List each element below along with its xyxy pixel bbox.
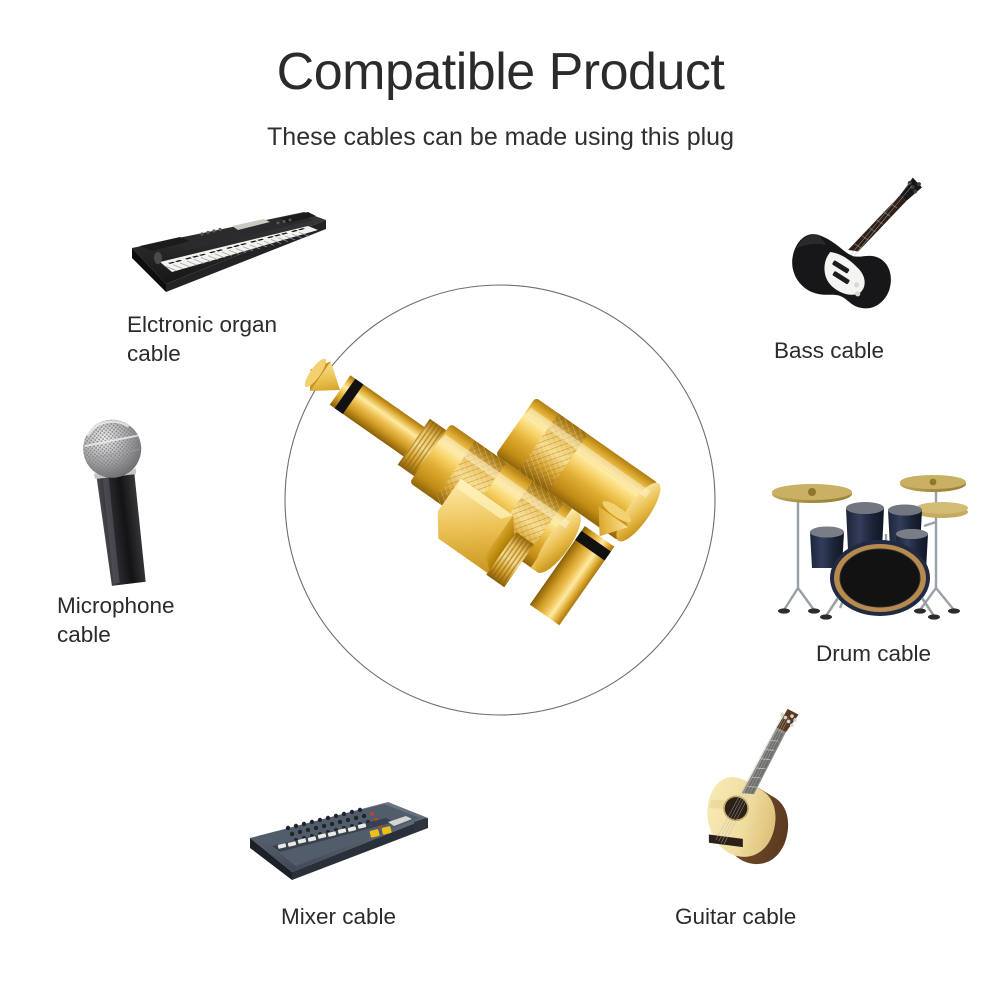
keyboard-icon xyxy=(112,196,336,304)
label-electronic-organ-cable: Elctronic organ cable xyxy=(127,311,277,369)
microphone-icon xyxy=(56,418,188,590)
page-subtitle: These cables can be made using this plug xyxy=(0,122,1001,152)
label-bass-cable: Bass cable xyxy=(774,337,884,366)
drum-kit-icon xyxy=(768,438,980,626)
label-microphone-cable: Microphone cable xyxy=(57,592,175,650)
infographic-canvas: Compatible Product These cables can be m… xyxy=(0,0,1001,1001)
page-title: Compatible Product xyxy=(0,44,1001,101)
label-drum-cable: Drum cable xyxy=(816,640,931,669)
product-illustration xyxy=(280,280,720,720)
label-guitar-cable: Guitar cable xyxy=(675,903,796,932)
acoustic-guitar-icon xyxy=(684,698,822,890)
mixer-icon xyxy=(238,766,436,886)
bass-guitar-icon xyxy=(790,152,922,328)
label-mixer-cable: Mixer cable xyxy=(281,903,396,932)
